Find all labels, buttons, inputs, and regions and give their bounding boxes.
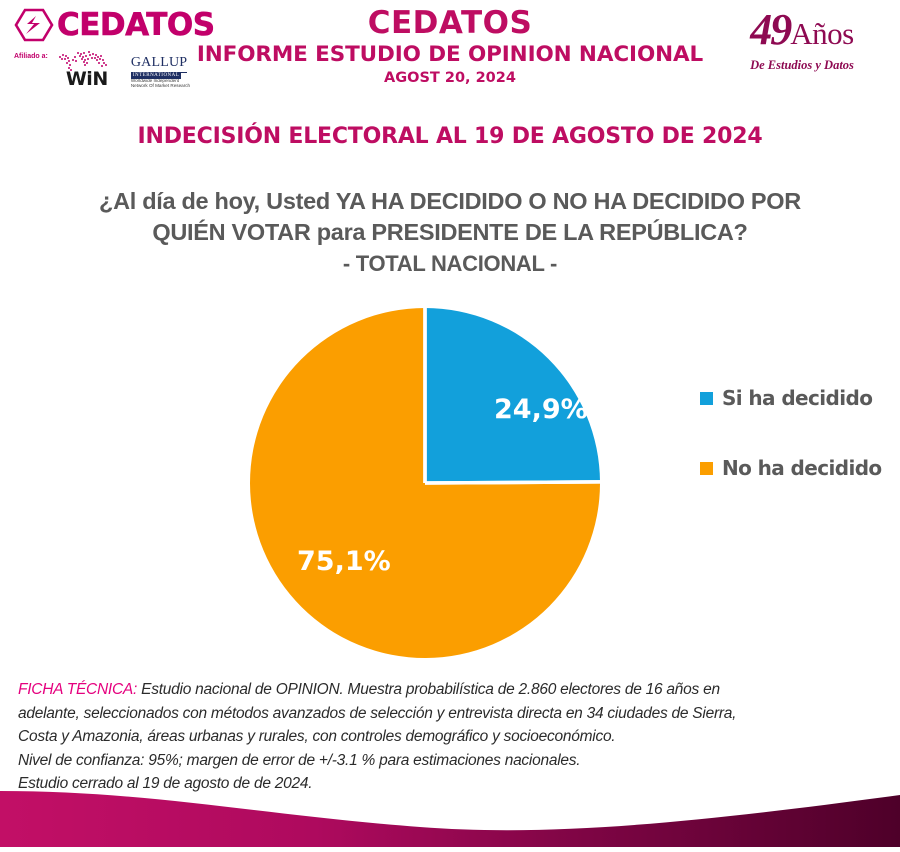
chart-legend: Si ha decidido No ha decidido [700,383,896,523]
page-header: CEDATOS Afiliado a: [0,0,900,108]
page-title: CEDATOS [190,4,710,42]
legend-item-si-ha-decidido[interactable]: Si ha decidido [700,383,896,413]
question-line-1: ¿Al día de hoy, Usted YA HA DECIDIDO O N… [0,186,900,217]
footer-wave-decoration [0,781,900,847]
anniversary-tagline: De Estudios y Datos [722,58,882,72]
pie-label-si-ha-decidido: 24,9% [494,394,588,425]
anniversary-number: 49 [750,5,790,54]
anniversary-badge: 49Años De Estudios y Datos [722,8,882,72]
logo-main-row: CEDATOS [14,6,204,44]
report-date: AGOST 20, 2024 [190,68,710,88]
technical-note: FICHA TÉCNICA: Estudio nacional de OPINI… [18,678,890,796]
page-subtitle: INFORME ESTUDIO DE OPINION NACIONAL [190,42,710,68]
question-line-2: QUIÉN VOTAR para PRESIDENTE DE LA REPÚBL… [0,217,900,248]
legend-label-no-ha-decidido: No ha decidido [722,456,882,480]
header-title-block: CEDATOS INFORME ESTUDIO DE OPINION NACIO… [190,4,710,88]
affiliate-label: Afiliado a: [14,53,48,60]
pie-label-no-ha-decidido: 75,1% [297,546,391,577]
technical-note-line-2: adelante, seleccionados con métodos avan… [18,702,890,726]
win-description: Worldwide Independent Network Of Market … [131,78,193,89]
cedatos-hexagon-icon [14,8,54,42]
legend-swatch-orange [700,462,713,475]
anniversary-line: 49Años [722,8,882,62]
gallup-international-logo: GALLUP INTERNATIONAL Worldwide Independe… [131,47,193,93]
technical-note-line-1: FICHA TÉCNICA: Estudio nacional de OPINI… [18,678,890,702]
anniversary-years-word: Años [790,16,853,51]
pie-chart: 24,9% 75,1% [250,308,600,658]
win-wordmark: WiN [66,69,108,89]
pie-chart-area: 24,9% 75,1% Si ha decidido No ha decidid… [0,295,900,670]
legend-label-si-ha-decidido: Si ha decidido [722,386,872,410]
legend-swatch-blue [700,392,713,405]
pie-chart-svg [250,308,600,658]
gallup-wordmark: GALLUP [131,55,187,73]
section-title: INDECISIÓN ELECTORAL AL 19 DE AGOSTO DE … [0,124,900,149]
technical-note-label: FICHA TÉCNICA: [18,681,137,698]
affiliation-row: Afiliado a: [14,47,204,95]
technical-note-line-4: Nivel de confianza: 95%; margen de error… [18,749,890,773]
win-logo: WiN [50,47,130,93]
legend-item-no-ha-decidido[interactable]: No ha decidido [700,453,896,483]
question-scope: - TOTAL NACIONAL - [0,248,900,279]
technical-note-line-1-rest: Estudio nacional de OPINION. Muestra pro… [137,681,720,698]
survey-question: ¿Al día de hoy, Usted YA HA DECIDIDO O N… [0,186,900,279]
cedatos-logo: CEDATOS Afiliado a: [14,6,204,98]
technical-note-line-3: Costa y Amazonia, áreas urbanas y rurale… [18,725,890,749]
